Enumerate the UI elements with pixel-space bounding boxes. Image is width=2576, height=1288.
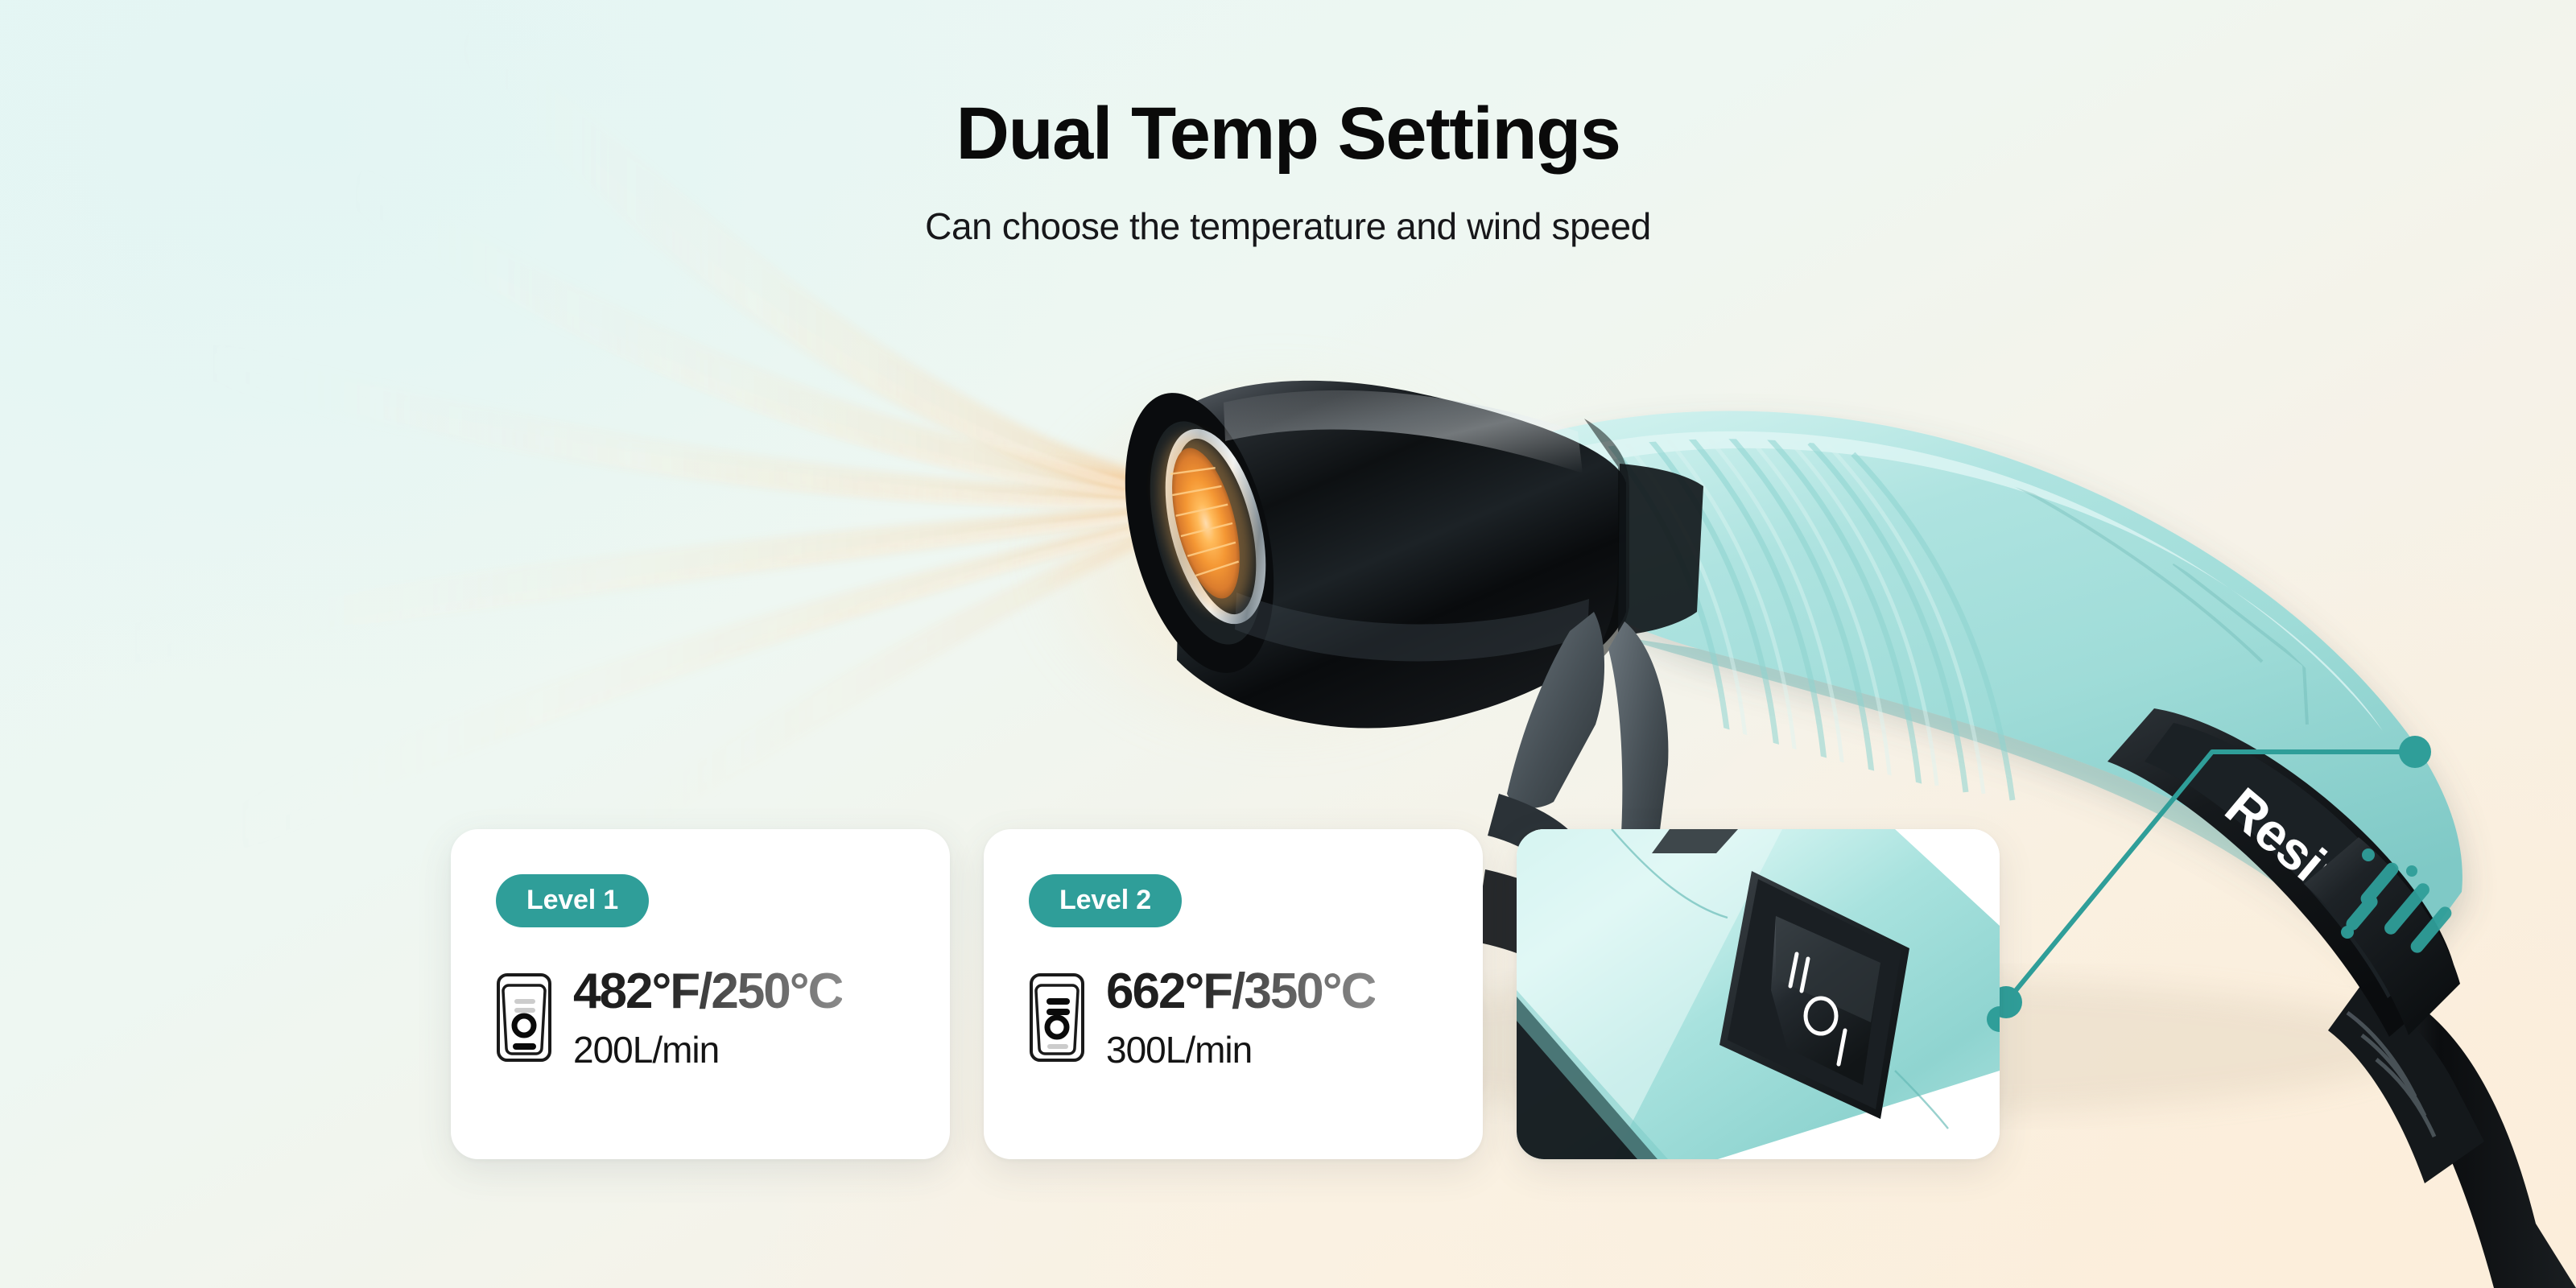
heat-gun-nozzle (1099, 378, 1703, 729)
rocker-switch-icon-level-2 (1029, 972, 1085, 1063)
airflow-value: 300L/min (1106, 1028, 1375, 1071)
switch-closeup-card[interactable] (1517, 829, 2000, 1159)
switch-closeup-photo (1517, 829, 2000, 1159)
rocker-switch-icon-level-1 (496, 972, 552, 1063)
rear-cap (2304, 837, 2460, 1035)
callout-line (2006, 752, 2415, 1002)
brand-label: Resiners (2215, 776, 2420, 962)
callout-dot-end (2399, 736, 2431, 768)
spec-card-level-2[interactable]: Level 2 662°F/350°C 300L/min (984, 829, 1483, 1159)
nozzle-support (1507, 612, 1604, 808)
page-subtitle: Can choose the temperature and wind spee… (0, 204, 2576, 248)
header: Dual Temp Settings Can choose the temper… (0, 97, 2576, 248)
spec-cards: Level 1 482°F/250°C 200L/min Level 2 (451, 829, 2000, 1159)
temperature-value: 662°F/350°C (1106, 966, 1375, 1017)
brand-plate: Resiners (2107, 708, 2457, 1037)
level-badge: Level 1 (496, 874, 649, 927)
heat-glow (950, 306, 1610, 805)
barrel-ridges (1602, 428, 2307, 800)
spec-card-level-1[interactable]: Level 1 482°F/250°C 200L/min (451, 829, 950, 1159)
power-cord (2367, 1002, 2576, 1288)
temperature-value: 482°F/250°C (573, 966, 842, 1017)
scene-background: Dual Temp Settings Can choose the temper… (0, 0, 2576, 1288)
cord-strain-relief (2328, 986, 2484, 1183)
airflow-value: 200L/min (573, 1028, 842, 1071)
heating-element (1143, 426, 1268, 621)
vent-slots (2341, 848, 2454, 956)
page-title: Dual Temp Settings (0, 97, 2576, 171)
nozzle-chrome-ring (1154, 424, 1278, 628)
level-badge: Level 2 (1029, 874, 1182, 927)
